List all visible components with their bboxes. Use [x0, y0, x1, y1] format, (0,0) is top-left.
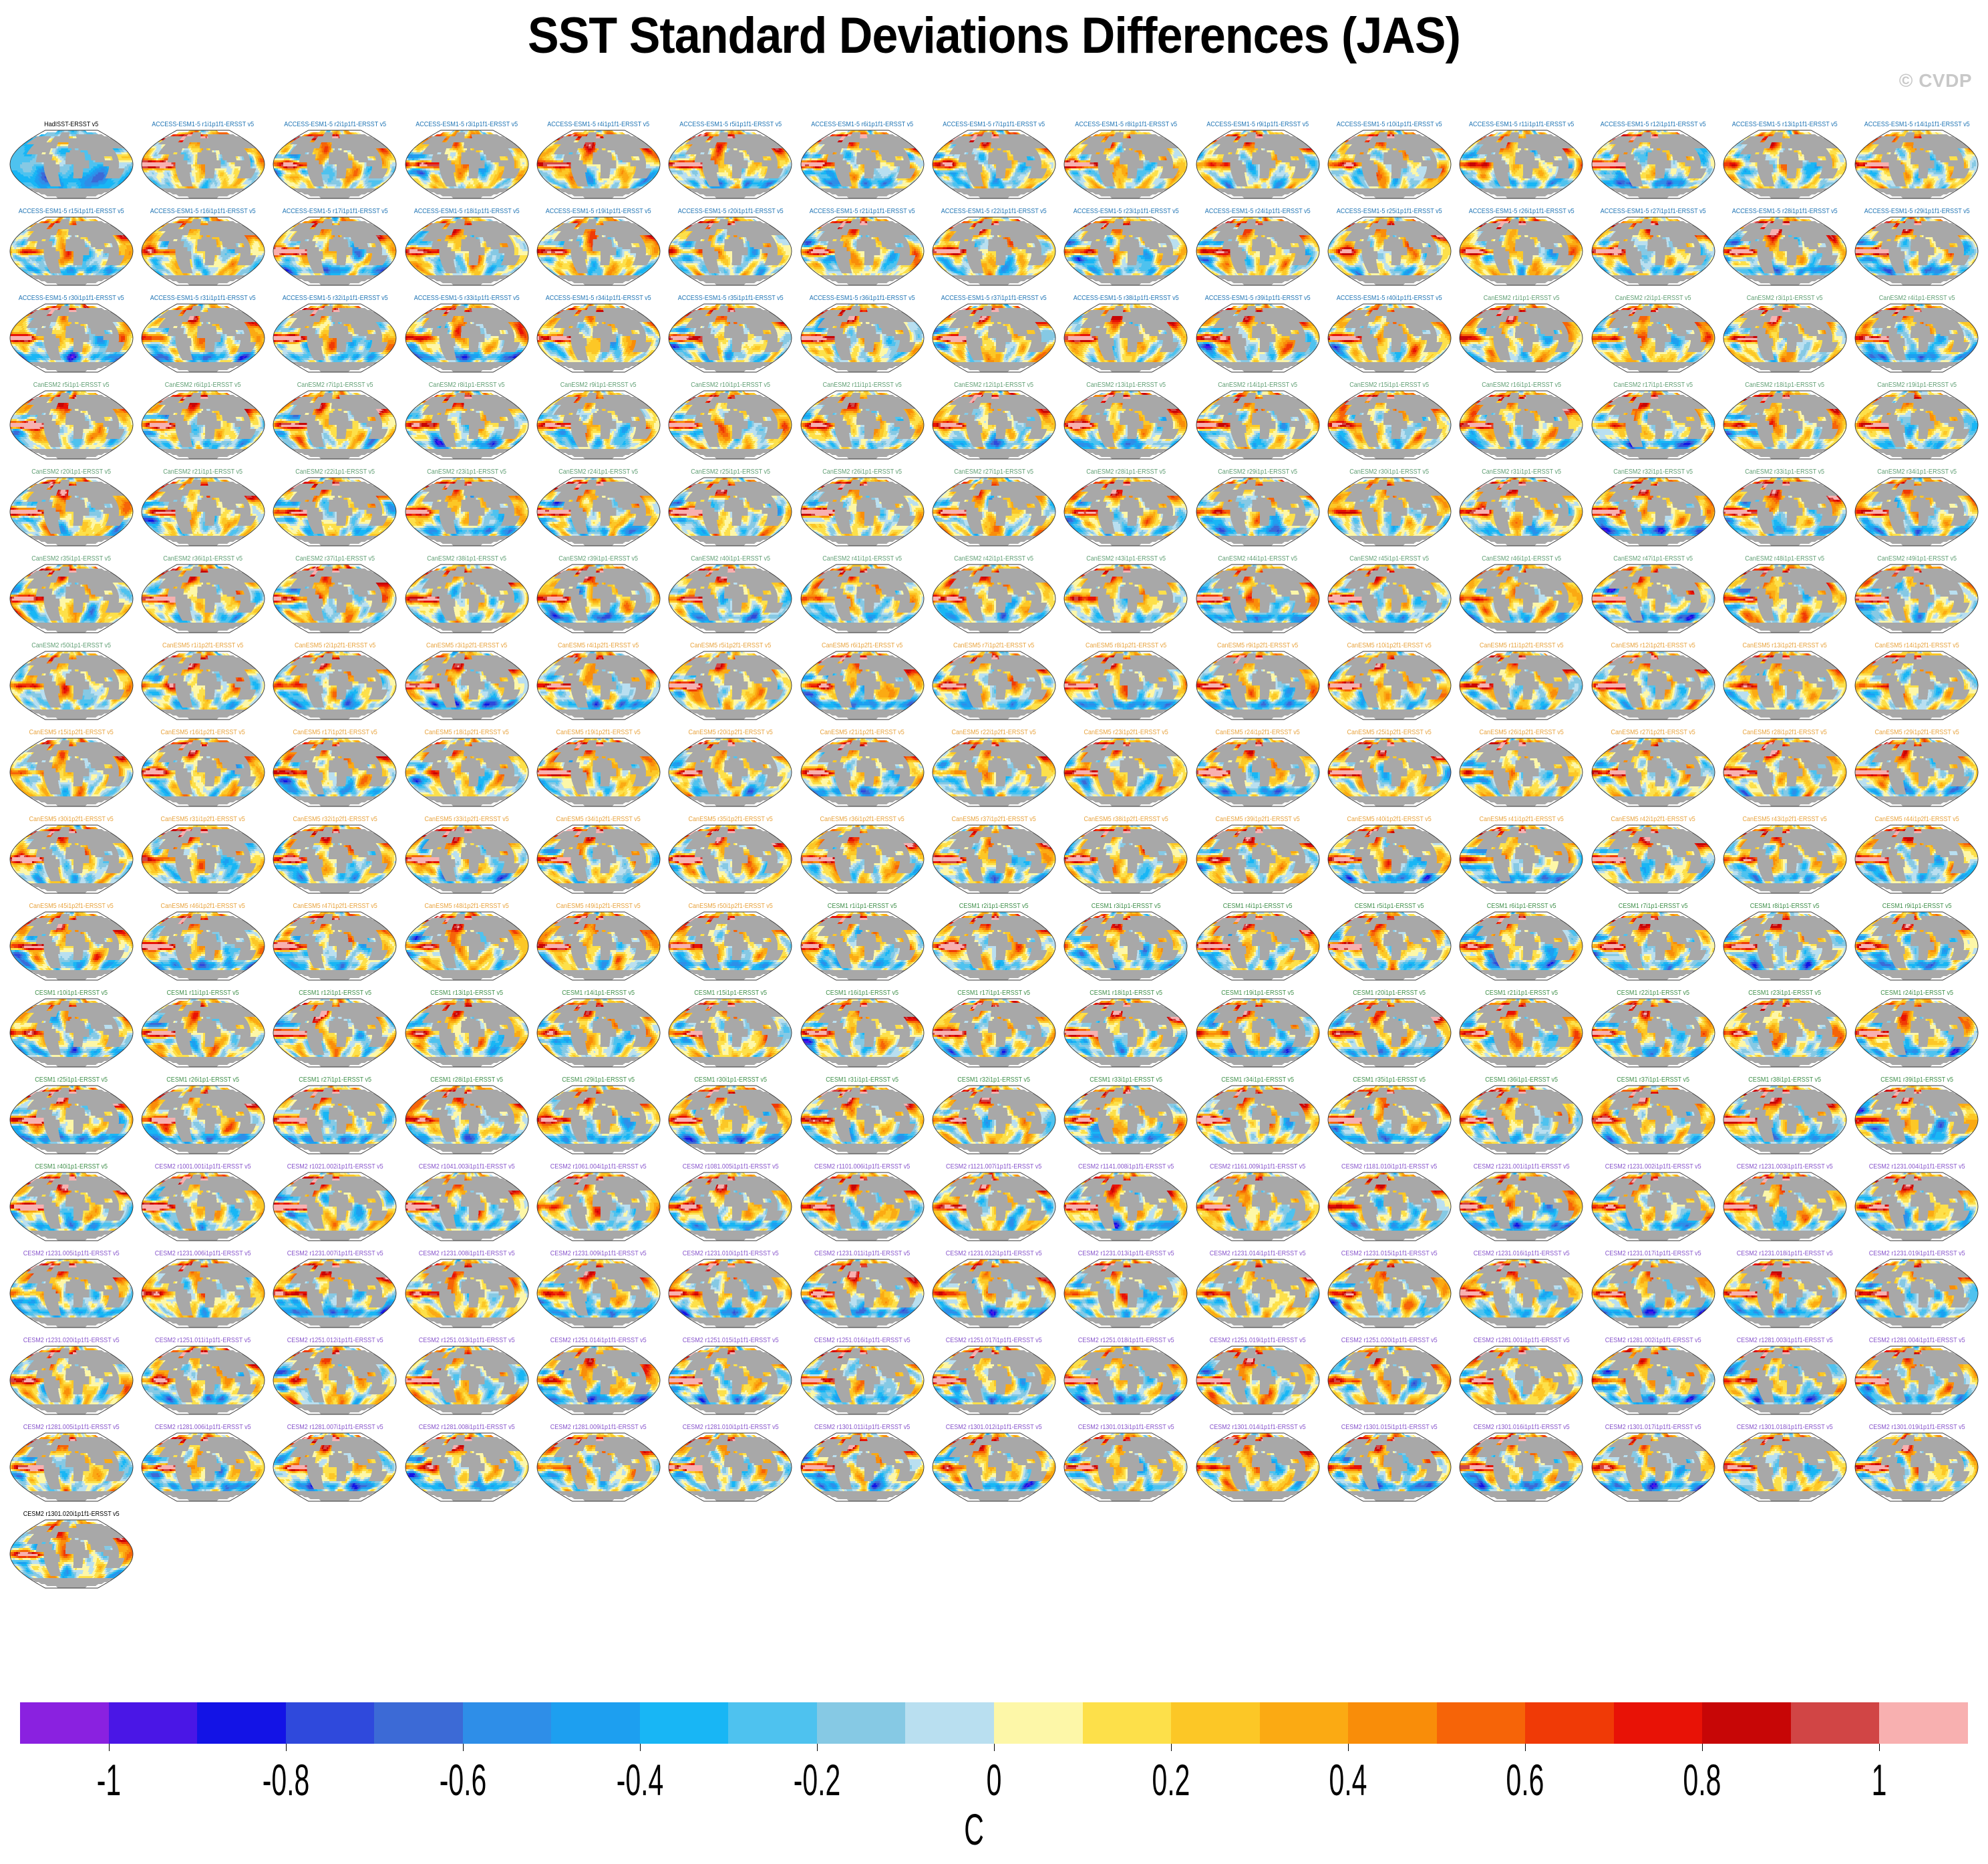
map-panel[interactable]: CESM1 r14i1p1-ERSST v5: [532, 989, 664, 1076]
map-panel[interactable]: CESM1 r36i1p1-ERSST v5: [1456, 1076, 1587, 1162]
map-panel[interactable]: CanESM5 r38i1p2f1-ERSST v5: [1060, 815, 1192, 902]
map-panel[interactable]: ACCESS-ESM1-5 r25i1p1f1-ERSST v5: [1323, 207, 1455, 294]
map-panel[interactable]: CESM2 r1231.004i1p1f1-ERSST v5: [1851, 1162, 1983, 1249]
map-panel[interactable]: ACCESS-ESM1-5 r24i1p1f1-ERSST v5: [1192, 207, 1323, 294]
map-panel[interactable]: CanESM5 r6i1p2f1-ERSST v5: [796, 641, 928, 728]
map-panel[interactable]: ACCESS-ESM1-5 r10i1p1f1-ERSST v5: [1323, 120, 1455, 207]
map-panel[interactable]: CESM2 r1281.006i1p1f1-ERSST v5: [137, 1423, 269, 1510]
map-panel[interactable]: CESM1 r27i1p1-ERSST v5: [269, 1076, 401, 1162]
map-panel[interactable]: CESM2 r1301.014i1p1f1-ERSST v5: [1192, 1423, 1323, 1510]
map-panel[interactable]: CESM2 r1231.013i1p1f1-ERSST v5: [1060, 1249, 1192, 1336]
map-panel[interactable]: CESM2 r1231.019i1p1f1-ERSST v5: [1851, 1249, 1983, 1336]
map-panel[interactable]: CESM2 r1281.003i1p1f1-ERSST v5: [1719, 1336, 1850, 1423]
map-panel[interactable]: CESM2 r1301.017i1p1f1-ERSST v5: [1587, 1423, 1719, 1510]
map-panel[interactable]: CESM1 r34i1p1-ERSST v5: [1192, 1076, 1323, 1162]
sst-anomaly-map: [800, 216, 925, 286]
sst-anomaly-map: [405, 1259, 529, 1328]
map-panel[interactable]: CanESM5 r39i1p2f1-ERSST v5: [1192, 815, 1323, 902]
map-panel[interactable]: CanESM5 r29i1p2f1-ERSST v5: [1851, 728, 1983, 815]
map-panel[interactable]: CanESM5 r26i1p2f1-ERSST v5: [1456, 728, 1587, 815]
map-panel[interactable]: ACCESS-ESM1-5 r5i1p1f1-ERSST v5: [665, 120, 796, 207]
map-panel[interactable]: ACCESS-ESM1-5 r19i1p1f1-ERSST v5: [532, 207, 664, 294]
map-panel[interactable]: CESM2 r1281.004i1p1f1-ERSST v5: [1851, 1336, 1983, 1423]
map-panel[interactable]: CESM2 r1231.008i1p1f1-ERSST v5: [401, 1249, 532, 1336]
panel-title: CanESM2 r48i1p1-ERSST v5: [1728, 555, 1842, 563]
map-panel[interactable]: CanESM2 r6i1p1-ERSST v5: [137, 381, 269, 468]
map-panel[interactable]: CanESM2 r4i1p1-ERSST v5: [1851, 294, 1983, 381]
map-panel[interactable]: CESM2 r1251.011i1p1f1-ERSST v5: [137, 1336, 269, 1423]
panel-title: CESM1 r6i1p1-ERSST v5: [1464, 902, 1578, 910]
sst-anomaly-map: [1196, 1432, 1320, 1502]
map-panel[interactable]: CESM1 r33i1p1-ERSST v5: [1060, 1076, 1192, 1162]
map-panel[interactable]: CESM2 r1251.020i1p1f1-ERSST v5: [1323, 1336, 1455, 1423]
map-panel[interactable]: CanESM5 r15i1p2f1-ERSST v5: [5, 728, 137, 815]
map-panel[interactable]: CanESM5 r27i1p2f1-ERSST v5: [1587, 728, 1719, 815]
map-panel[interactable]: CanESM5 r7i1p2f1-ERSST v5: [928, 641, 1059, 728]
map-panel[interactable]: ACCESS-ESM1-5 r26i1p1f1-ERSST v5: [1456, 207, 1587, 294]
map-panel[interactable]: CanESM5 r14i1p2f1-ERSST v5: [1851, 641, 1983, 728]
map-panel[interactable]: CanESM5 r2i1p2f1-ERSST v5: [269, 641, 401, 728]
map-panel[interactable]: CanESM5 r12i1p2f1-ERSST v5: [1587, 641, 1719, 728]
map-panel[interactable]: CanESM5 r46i1p2f1-ERSST v5: [137, 902, 269, 989]
map-panel[interactable]: CESM2 r1231.020i1p1f1-ERSST v5: [5, 1336, 137, 1423]
map-panel[interactable]: ACCESS-ESM1-5 r28i1p1f1-ERSST v5: [1719, 207, 1850, 294]
map-panel[interactable]: CESM2 r1231.003i1p1f1-ERSST v5: [1719, 1162, 1850, 1249]
map-panel[interactable]: CESM1 r23i1p1-ERSST v5: [1719, 989, 1850, 1076]
map-panel[interactable]: ACCESS-ESM1-5 r13i1p1f1-ERSST v5: [1719, 120, 1850, 207]
map-panel[interactable]: ACCESS-ESM1-5 r18i1p1f1-ERSST v5: [401, 207, 532, 294]
map-panel[interactable]: CanESM5 r37i1p2f1-ERSST v5: [928, 815, 1059, 902]
map-panel[interactable]: CanESM2 r37i1p1-ERSST v5: [269, 555, 401, 641]
map-panel[interactable]: CanESM5 r16i1p2f1-ERSST v5: [137, 728, 269, 815]
map-panel[interactable]: CESM2 r1301.011i1p1f1-ERSST v5: [796, 1423, 928, 1510]
map-panel[interactable]: CESM2 r1231.017i1p1f1-ERSST v5: [1587, 1249, 1719, 1336]
panel-title: ACCESS-ESM1-5 r4i1p1f1-ERSST v5: [542, 120, 655, 128]
map-panel[interactable]: CanESM2 r22i1p1-ERSST v5: [269, 468, 401, 555]
map-panel[interactable]: CESM2 r1251.012i1p1f1-ERSST v5: [269, 1336, 401, 1423]
map-panel[interactable]: ACCESS-ESM1-5 r21i1p1f1-ERSST v5: [796, 207, 928, 294]
map-panel[interactable]: CanESM2 r5i1p1-ERSST v5: [5, 381, 137, 468]
map-panel[interactable]: CESM1 r38i1p1-ERSST v5: [1719, 1076, 1850, 1162]
sst-anomaly-map: [1459, 216, 1583, 286]
map-panel[interactable]: CESM2 r1001.001i1p1f1-ERSST v5: [137, 1162, 269, 1249]
map-panel[interactable]: CanESM2 r12i1p1-ERSST v5: [928, 381, 1059, 468]
map-panel[interactable]: CESM1 r37i1p1-ERSST v5: [1587, 1076, 1719, 1162]
panel-title: CanESM2 r14i1p1-ERSST v5: [1201, 381, 1315, 389]
map-panel[interactable]: CanESM5 r40i1p2f1-ERSST v5: [1323, 815, 1455, 902]
sst-anomaly-map: [1854, 390, 1979, 460]
map-panel[interactable]: CanESM2 r1i1p1-ERSST v5: [1456, 294, 1587, 381]
map-panel[interactable]: CanESM2 r39i1p1-ERSST v5: [532, 555, 664, 641]
map-panel[interactable]: CESM2 r1301.013i1p1f1-ERSST v5: [1060, 1423, 1192, 1510]
map-panel[interactable]: ACCESS-ESM1-5 r1i1p1f1-ERSST v5: [137, 120, 269, 207]
panel-title: CESM2 r1301.014i1p1f1-ERSST v5: [1201, 1423, 1315, 1431]
sst-anomaly-map: [1723, 651, 1847, 720]
map-panel[interactable]: ACCESS-ESM1-5 r6i1p1f1-ERSST v5: [796, 120, 928, 207]
map-panel[interactable]: CanESM5 r48i1p2f1-ERSST v5: [401, 902, 532, 989]
map-panel[interactable]: ACCESS-ESM1-5 r32i1p1f1-ERSST v5: [269, 294, 401, 381]
map-panel[interactable]: CanESM2 r42i1p1-ERSST v5: [928, 555, 1059, 641]
map-panel[interactable]: CanESM2 r43i1p1-ERSST v5: [1060, 555, 1192, 641]
map-panel[interactable]: CESM1 r10i1p1-ERSST v5: [5, 989, 137, 1076]
map-panel[interactable]: CanESM2 r18i1p1-ERSST v5: [1719, 381, 1850, 468]
map-panel[interactable]: CanESM5 r13i1p2f1-ERSST v5: [1719, 641, 1850, 728]
map-panel[interactable]: CESM1 r3i1p1-ERSST v5: [1060, 902, 1192, 989]
map-panel[interactable]: CanESM5 r44i1p2f1-ERSST v5: [1851, 815, 1983, 902]
map-panel[interactable]: CanESM2 r15i1p1-ERSST v5: [1323, 381, 1455, 468]
map-panel[interactable]: CanESM2 r17i1p1-ERSST v5: [1587, 381, 1719, 468]
map-panel[interactable]: CESM2 r1251.013i1p1f1-ERSST v5: [401, 1336, 532, 1423]
map-panel[interactable]: CanESM5 r8i1p2f1-ERSST v5: [1060, 641, 1192, 728]
map-panel[interactable]: CESM1 r29i1p1-ERSST v5: [532, 1076, 664, 1162]
sst-anomaly-map: [536, 1085, 661, 1154]
map-panel[interactable]: CESM2 r1301.016i1p1f1-ERSST v5: [1456, 1423, 1587, 1510]
map-panel[interactable]: CESM2 r1281.009i1p1f1-ERSST v5: [532, 1423, 664, 1510]
map-panel[interactable]: CESM2 r1281.007i1p1f1-ERSST v5: [269, 1423, 401, 1510]
colorbar-tick: [994, 1744, 995, 1751]
map-panel[interactable]: CanESM5 r9i1p2f1-ERSST v5: [1192, 641, 1323, 728]
map-panel[interactable]: CESM1 r16i1p1-ERSST v5: [796, 989, 928, 1076]
sst-anomaly-map: [932, 824, 1056, 894]
map-panel[interactable]: CanESM5 r33i1p2f1-ERSST v5: [401, 815, 532, 902]
map-panel[interactable]: CESM2 r1231.012i1p1f1-ERSST v5: [928, 1249, 1059, 1336]
sst-anomaly-map: [141, 477, 265, 547]
map-panel[interactable]: CanESM5 r23i1p2f1-ERSST v5: [1060, 728, 1192, 815]
map-panel[interactable]: CESM1 r40i1p1-ERSST v5: [5, 1162, 137, 1249]
sst-anomaly-map: [9, 738, 134, 807]
map-panel[interactable]: CanESM5 r50i1p2f1-ERSST v5: [665, 902, 796, 989]
map-panel[interactable]: CESM1 r15i1p1-ERSST v5: [665, 989, 796, 1076]
map-panel[interactable]: HadISST-ERSST v5: [5, 120, 137, 207]
map-panel[interactable]: CESM2 r1181.010i1p1f1-ERSST v5: [1323, 1162, 1455, 1249]
sst-anomaly-map: [1327, 390, 1452, 460]
sst-anomaly-map: [1063, 998, 1188, 1068]
map-panel[interactable]: CESM2 r1061.004i1p1f1-ERSST v5: [532, 1162, 664, 1249]
map-panel[interactable]: CESM1 r12i1p1-ERSST v5: [269, 989, 401, 1076]
panel-title: CanESM2 r21i1p1-ERSST v5: [146, 468, 260, 476]
sst-anomaly-map: [1723, 303, 1847, 373]
map-panel[interactable]: ACCESS-ESM1-5 r17i1p1f1-ERSST v5: [269, 207, 401, 294]
map-panel[interactable]: CESM2 r1251.018i1p1f1-ERSST v5: [1060, 1336, 1192, 1423]
panel-title: CESM1 r37i1p1-ERSST v5: [1597, 1076, 1710, 1084]
map-panel[interactable]: CanESM2 r7i1p1-ERSST v5: [269, 381, 401, 468]
sst-anomaly-map: [1723, 1259, 1847, 1328]
sst-anomaly-map: [800, 564, 925, 633]
map-panel[interactable]: CanESM2 r31i1p1-ERSST v5: [1456, 468, 1587, 555]
panel-title: ACCESS-ESM1-5 r23i1p1f1-ERSST v5: [1069, 207, 1182, 215]
panel-title: CESM2 r1041.003i1p1f1-ERSST v5: [410, 1162, 524, 1171]
map-panel[interactable]: CESM1 r6i1p1-ERSST v5: [1456, 902, 1587, 989]
colorbar-tick-label: 0.6: [1506, 1754, 1544, 1805]
map-panel[interactable]: ACCESS-ESM1-5 r7i1p1f1-ERSST v5: [928, 120, 1059, 207]
map-panel[interactable]: ACCESS-ESM1-5 r37i1p1f1-ERSST v5: [928, 294, 1059, 381]
map-panel[interactable]: CESM2 r1101.006i1p1f1-ERSST v5: [796, 1162, 928, 1249]
map-panel[interactable]: ACCESS-ESM1-5 r8i1p1f1-ERSST v5: [1060, 120, 1192, 207]
map-panel[interactable]: CanESM5 r4i1p2f1-ERSST v5: [532, 641, 664, 728]
colorbar-swatch: [197, 1702, 286, 1744]
map-panel[interactable]: CanESM5 r25i1p2f1-ERSST v5: [1323, 728, 1455, 815]
map-panel[interactable]: CESM1 r24i1p1-ERSST v5: [1851, 989, 1983, 1076]
map-panel[interactable]: CESM2 r1251.016i1p1f1-ERSST v5: [796, 1336, 928, 1423]
map-panel[interactable]: CESM1 r4i1p1-ERSST v5: [1192, 902, 1323, 989]
map-panel[interactable]: ACCESS-ESM1-5 r16i1p1f1-ERSST v5: [137, 207, 269, 294]
map-panel[interactable]: CanESM2 r8i1p1-ERSST v5: [401, 381, 532, 468]
map-panel[interactable]: CanESM5 r17i1p2f1-ERSST v5: [269, 728, 401, 815]
map-panel[interactable]: CESM1 r31i1p1-ERSST v5: [796, 1076, 928, 1162]
map-panel[interactable]: CanESM2 r10i1p1-ERSST v5: [665, 381, 796, 468]
map-panel[interactable]: CESM2 r1231.001i1p1f1-ERSST v5: [1456, 1162, 1587, 1249]
map-panel[interactable]: CESM2 r1161.009i1p1f1-ERSST v5: [1192, 1162, 1323, 1249]
sst-anomaly-map: [1723, 477, 1847, 547]
map-panel[interactable]: CanESM5 r19i1p2f1-ERSST v5: [532, 728, 664, 815]
map-panel[interactable]: CESM2 r1281.001i1p1f1-ERSST v5: [1456, 1336, 1587, 1423]
map-panel[interactable]: CESM2 r1231.014i1p1f1-ERSST v5: [1192, 1249, 1323, 1336]
sst-anomaly-map: [1723, 390, 1847, 460]
map-panel[interactable]: CESM2 r1301.015i1p1f1-ERSST v5: [1323, 1423, 1455, 1510]
map-panel[interactable]: ACCESS-ESM1-5 r38i1p1f1-ERSST v5: [1060, 294, 1192, 381]
map-panel[interactable]: CESM1 r39i1p1-ERSST v5: [1851, 1076, 1983, 1162]
map-panel[interactable]: ACCESS-ESM1-5 r29i1p1f1-ERSST v5: [1851, 207, 1983, 294]
map-panel[interactable]: CanESM2 r46i1p1-ERSST v5: [1456, 555, 1587, 641]
map-panel[interactable]: ACCESS-ESM1-5 r34i1p1f1-ERSST v5: [532, 294, 664, 381]
map-panel[interactable]: ACCESS-ESM1-5 r14i1p1f1-ERSST v5: [1851, 120, 1983, 207]
map-panel[interactable]: ACCESS-ESM1-5 r39i1p1f1-ERSST v5: [1192, 294, 1323, 381]
map-panel[interactable]: CESM2 r1251.019i1p1f1-ERSST v5: [1192, 1336, 1323, 1423]
map-panel[interactable]: CanESM2 r47i1p1-ERSST v5: [1587, 555, 1719, 641]
map-panel[interactable]: CanESM2 r9i1p1-ERSST v5: [532, 381, 664, 468]
map-panel[interactable]: CanESM2 r32i1p1-ERSST v5: [1587, 468, 1719, 555]
map-panel[interactable]: CESM1 r26i1p1-ERSST v5: [137, 1076, 269, 1162]
map-panel[interactable]: ACCESS-ESM1-5 r11i1p1f1-ERSST v5: [1456, 120, 1587, 207]
map-panel[interactable]: CESM2 r1231.011i1p1f1-ERSST v5: [796, 1249, 928, 1336]
map-panel[interactable]: CanESM2 r29i1p1-ERSST v5: [1192, 468, 1323, 555]
sst-anomaly-map: [1591, 1259, 1715, 1328]
map-panel[interactable]: CESM1 r17i1p1-ERSST v5: [928, 989, 1059, 1076]
colorbar-swatch: [1879, 1702, 1968, 1744]
map-panel[interactable]: CanESM5 r28i1p2f1-ERSST v5: [1719, 728, 1850, 815]
sst-anomaly-map: [1196, 1259, 1320, 1328]
sst-anomaly-map: [141, 1259, 265, 1328]
map-panel[interactable]: CanESM2 r30i1p1-ERSST v5: [1323, 468, 1455, 555]
map-panel[interactable]: CESM2 r1121.007i1p1f1-ERSST v5: [928, 1162, 1059, 1249]
map-panel[interactable]: CanESM2 r25i1p1-ERSST v5: [665, 468, 796, 555]
map-panel[interactable]: CanESM5 r22i1p2f1-ERSST v5: [928, 728, 1059, 815]
map-panel[interactable]: CanESM5 r11i1p2f1-ERSST v5: [1456, 641, 1587, 728]
map-panel[interactable]: CanESM5 r47i1p2f1-ERSST v5: [269, 902, 401, 989]
map-panel[interactable]: CESM2 r1081.005i1p1f1-ERSST v5: [665, 1162, 796, 1249]
panel-title: CESM1 r18i1p1-ERSST v5: [1069, 989, 1182, 997]
sst-anomaly-map: [273, 911, 397, 981]
map-panel[interactable]: CanESM5 r3i1p2f1-ERSST v5: [401, 641, 532, 728]
map-panel[interactable]: CESM1 r18i1p1-ERSST v5: [1060, 989, 1192, 1076]
panel-title: CESM2 r1061.004i1p1f1-ERSST v5: [542, 1162, 655, 1171]
map-panel[interactable]: CanESM2 r36i1p1-ERSST v5: [137, 555, 269, 641]
map-panel[interactable]: CESM2 r1141.008i1p1f1-ERSST v5: [1060, 1162, 1192, 1249]
map-panel[interactable]: CanESM5 r31i1p2f1-ERSST v5: [137, 815, 269, 902]
map-panel[interactable]: CanESM2 r2i1p1-ERSST v5: [1587, 294, 1719, 381]
panel-title: CESM2 r1231.010i1p1f1-ERSST v5: [673, 1249, 787, 1257]
sst-anomaly-map: [405, 303, 529, 373]
map-panel[interactable]: CanESM2 r41i1p1-ERSST v5: [796, 555, 928, 641]
map-panel[interactable]: CESM1 r2i1p1-ERSST v5: [928, 902, 1059, 989]
map-panel[interactable]: CESM2 r1231.006i1p1f1-ERSST v5: [137, 1249, 269, 1336]
sst-anomaly-map: [1854, 824, 1979, 894]
map-panel[interactable]: CESM1 r35i1p1-ERSST v5: [1323, 1076, 1455, 1162]
map-panel[interactable]: CanESM5 r43i1p2f1-ERSST v5: [1719, 815, 1850, 902]
map-panel[interactable]: CESM1 r7i1p1-ERSST v5: [1587, 902, 1719, 989]
panel-title: CanESM5 r27i1p2f1-ERSST v5: [1597, 728, 1710, 736]
sst-anomaly-map: [800, 911, 925, 981]
map-panel[interactable]: CanESM2 r34i1p1-ERSST v5: [1851, 468, 1983, 555]
map-panel[interactable]: CESM1 r1i1p1-ERSST v5: [796, 902, 928, 989]
map-panel[interactable]: CanESM2 r27i1p1-ERSST v5: [928, 468, 1059, 555]
map-panel[interactable]: CESM2 r1231.010i1p1f1-ERSST v5: [665, 1249, 796, 1336]
map-panel[interactable]: CanESM5 r49i1p2f1-ERSST v5: [532, 902, 664, 989]
map-panel[interactable]: ACCESS-ESM1-5 r22i1p1f1-ERSST v5: [928, 207, 1059, 294]
map-panel[interactable]: CanESM5 r32i1p2f1-ERSST v5: [269, 815, 401, 902]
map-panel[interactable]: CanESM2 r50i1p1-ERSST v5: [5, 641, 137, 728]
map-panel[interactable]: CESM2 r1231.018i1p1f1-ERSST v5: [1719, 1249, 1850, 1336]
map-panel[interactable]: CanESM2 r35i1p1-ERSST v5: [5, 555, 137, 641]
sst-anomaly-map: [141, 1085, 265, 1154]
map-panel[interactable]: CESM1 r22i1p1-ERSST v5: [1587, 989, 1719, 1076]
map-panel[interactable]: CanESM2 r11i1p1-ERSST v5: [796, 381, 928, 468]
map-panel[interactable]: CESM2 r1231.009i1p1f1-ERSST v5: [532, 1249, 664, 1336]
map-panel[interactable]: CanESM5 r34i1p2f1-ERSST v5: [532, 815, 664, 902]
map-panel[interactable]: CESM2 r1301.018i1p1f1-ERSST v5: [1719, 1423, 1850, 1510]
map-panel[interactable]: CESM2 r1041.003i1p1f1-ERSST v5: [401, 1162, 532, 1249]
map-panel[interactable]: ACCESS-ESM1-5 r31i1p1f1-ERSST v5: [137, 294, 269, 381]
map-panel[interactable]: CanESM2 r24i1p1-ERSST v5: [532, 468, 664, 555]
map-panel[interactable]: CanESM5 r30i1p2f1-ERSST v5: [5, 815, 137, 902]
map-panel[interactable]: CanESM5 r5i1p2f1-ERSST v5: [665, 641, 796, 728]
panel-title: CanESM5 r25i1p2f1-ERSST v5: [1333, 728, 1446, 736]
sst-anomaly-map: [273, 738, 397, 807]
map-panel[interactable]: ACCESS-ESM1-5 r20i1p1f1-ERSST v5: [665, 207, 796, 294]
sst-anomaly-map: [668, 738, 792, 807]
map-panel[interactable]: CanESM2 r19i1p1-ERSST v5: [1851, 381, 1983, 468]
map-panel[interactable]: CESM2 r1231.015i1p1f1-ERSST v5: [1323, 1249, 1455, 1336]
map-panel[interactable]: CESM2 r1251.014i1p1f1-ERSST v5: [532, 1336, 664, 1423]
map-panel[interactable]: CanESM5 r35i1p2f1-ERSST v5: [665, 815, 796, 902]
map-panel[interactable]: CanESM5 r24i1p2f1-ERSST v5: [1192, 728, 1323, 815]
map-panel[interactable]: ACCESS-ESM1-5 r4i1p1f1-ERSST v5: [532, 120, 664, 207]
map-panel[interactable]: CESM2 r1281.005i1p1f1-ERSST v5: [5, 1423, 137, 1510]
map-panel[interactable]: CESM1 r13i1p1-ERSST v5: [401, 989, 532, 1076]
map-panel[interactable]: CESM1 r30i1p1-ERSST v5: [665, 1076, 796, 1162]
map-panel[interactable]: CanESM2 r49i1p1-ERSST v5: [1851, 555, 1983, 641]
map-panel[interactable]: CESM1 r19i1p1-ERSST v5: [1192, 989, 1323, 1076]
map-panel[interactable]: CESM1 r28i1p1-ERSST v5: [401, 1076, 532, 1162]
map-panel[interactable]: CESM2 r1231.005i1p1f1-ERSST v5: [5, 1249, 137, 1336]
map-panel[interactable]: CanESM2 r44i1p1-ERSST v5: [1192, 555, 1323, 641]
map-panel[interactable]: CESM2 r1301.020i1p1f1-ERSST v5: [5, 1510, 137, 1597]
map-panel[interactable]: ACCESS-ESM1-5 r30i1p1f1-ERSST v5: [5, 294, 137, 381]
sst-anomaly-map: [1591, 130, 1715, 199]
map-panel[interactable]: CanESM2 r13i1p1-ERSST v5: [1060, 381, 1192, 468]
panel-title: CanESM2 r38i1p1-ERSST v5: [410, 555, 524, 563]
map-panel[interactable]: ACCESS-ESM1-5 r27i1p1f1-ERSST v5: [1587, 207, 1719, 294]
map-panel[interactable]: CESM2 r1281.008i1p1f1-ERSST v5: [401, 1423, 532, 1510]
sst-anomaly-map: [800, 1346, 925, 1415]
map-panel[interactable]: CanESM2 r16i1p1-ERSST v5: [1456, 381, 1587, 468]
map-panel[interactable]: CanESM2 r28i1p1-ERSST v5: [1060, 468, 1192, 555]
map-panel[interactable]: CanESM2 r45i1p1-ERSST v5: [1323, 555, 1455, 641]
panel-title: ACCESS-ESM1-5 r8i1p1f1-ERSST v5: [1069, 120, 1182, 128]
map-panel[interactable]: CanESM5 r20i1p2f1-ERSST v5: [665, 728, 796, 815]
map-panel[interactable]: ACCESS-ESM1-5 r3i1p1f1-ERSST v5: [401, 120, 532, 207]
sst-anomaly-map: [668, 130, 792, 199]
map-panel[interactable]: ACCESS-ESM1-5 r9i1p1f1-ERSST v5: [1192, 120, 1323, 207]
map-panel[interactable]: CanESM2 r14i1p1-ERSST v5: [1192, 381, 1323, 468]
map-panel[interactable]: CESM1 r20i1p1-ERSST v5: [1323, 989, 1455, 1076]
map-panel[interactable]: ACCESS-ESM1-5 r33i1p1f1-ERSST v5: [401, 294, 532, 381]
map-panel[interactable]: CanESM5 r41i1p2f1-ERSST v5: [1456, 815, 1587, 902]
map-panel[interactable]: CESM1 r8i1p1-ERSST v5: [1719, 902, 1850, 989]
map-panel[interactable]: CanESM2 r48i1p1-ERSST v5: [1719, 555, 1850, 641]
map-panel[interactable]: CanESM2 r38i1p1-ERSST v5: [401, 555, 532, 641]
sst-anomaly-map: [1327, 1432, 1452, 1502]
panel-title: CanESM5 r45i1p2f1-ERSST v5: [15, 902, 128, 910]
map-panel[interactable]: CanESM5 r18i1p2f1-ERSST v5: [401, 728, 532, 815]
map-panel[interactable]: CESM1 r11i1p1-ERSST v5: [137, 989, 269, 1076]
sst-anomaly-map: [1854, 1259, 1979, 1328]
map-panel[interactable]: CESM1 r25i1p1-ERSST v5: [5, 1076, 137, 1162]
map-panel[interactable]: CESM2 r1281.002i1p1f1-ERSST v5: [1587, 1336, 1719, 1423]
map-panel[interactable]: ACCESS-ESM1-5 r2i1p1f1-ERSST v5: [269, 120, 401, 207]
map-panel[interactable]: CanESM5 r1i1p2f1-ERSST v5: [137, 641, 269, 728]
map-panel[interactable]: CanESM5 r42i1p2f1-ERSST v5: [1587, 815, 1719, 902]
map-panel[interactable]: CESM2 r1231.002i1p1f1-ERSST v5: [1587, 1162, 1719, 1249]
map-panel[interactable]: ACCESS-ESM1-5 r35i1p1f1-ERSST v5: [665, 294, 796, 381]
map-panel[interactable]: CESM2 r1301.012i1p1f1-ERSST v5: [928, 1423, 1059, 1510]
map-panel[interactable]: CESM2 r1251.015i1p1f1-ERSST v5: [665, 1336, 796, 1423]
map-panel[interactable]: ACCESS-ESM1-5 r36i1p1f1-ERSST v5: [796, 294, 928, 381]
sst-anomaly-map: [668, 1172, 792, 1241]
map-panel[interactable]: CESM1 r9i1p1-ERSST v5: [1851, 902, 1983, 989]
map-panel[interactable]: CanESM2 r23i1p1-ERSST v5: [401, 468, 532, 555]
map-panel[interactable]: CanESM2 r40i1p1-ERSST v5: [665, 555, 796, 641]
map-panel[interactable]: CanESM2 r20i1p1-ERSST v5: [5, 468, 137, 555]
map-panel[interactable]: CESM2 r1301.019i1p1f1-ERSST v5: [1851, 1423, 1983, 1510]
map-panel[interactable]: CanESM2 r21i1p1-ERSST v5: [137, 468, 269, 555]
map-panel[interactable]: CESM1 r21i1p1-ERSST v5: [1456, 989, 1587, 1076]
map-panel[interactable]: CanESM2 r26i1p1-ERSST v5: [796, 468, 928, 555]
colorbar-tick-label: -0.2: [794, 1754, 841, 1805]
map-panel[interactable]: CanESM5 r45i1p2f1-ERSST v5: [5, 902, 137, 989]
map-panel[interactable]: CESM2 r1281.010i1p1f1-ERSST v5: [665, 1423, 796, 1510]
map-panel[interactable]: CanESM2 r33i1p1-ERSST v5: [1719, 468, 1850, 555]
map-panel[interactable]: CESM2 r1231.007i1p1f1-ERSST v5: [269, 1249, 401, 1336]
map-panel[interactable]: CanESM2 r3i1p1-ERSST v5: [1719, 294, 1850, 381]
map-panel[interactable]: CESM2 r1251.017i1p1f1-ERSST v5: [928, 1336, 1059, 1423]
map-panel[interactable]: CESM2 r1021.002i1p1f1-ERSST v5: [269, 1162, 401, 1249]
map-panel[interactable]: ACCESS-ESM1-5 r23i1p1f1-ERSST v5: [1060, 207, 1192, 294]
map-panel[interactable]: ACCESS-ESM1-5 r15i1p1f1-ERSST v5: [5, 207, 137, 294]
map-panel[interactable]: CESM2 r1231.016i1p1f1-ERSST v5: [1456, 1249, 1587, 1336]
map-panel[interactable]: ACCESS-ESM1-5 r12i1p1f1-ERSST v5: [1587, 120, 1719, 207]
panel-title: CanESM2 r29i1p1-ERSST v5: [1201, 468, 1315, 476]
panel-title: ACCESS-ESM1-5 r39i1p1f1-ERSST v5: [1201, 294, 1315, 302]
map-panel[interactable]: CanESM5 r10i1p2f1-ERSST v5: [1323, 641, 1455, 728]
map-panel[interactable]: CESM1 r32i1p1-ERSST v5: [928, 1076, 1059, 1162]
sst-anomaly-map: [9, 824, 134, 894]
map-panel[interactable]: CanESM5 r21i1p2f1-ERSST v5: [796, 728, 928, 815]
map-panel[interactable]: ACCESS-ESM1-5 r40i1p1f1-ERSST v5: [1323, 294, 1455, 381]
map-panel[interactable]: CESM1 r5i1p1-ERSST v5: [1323, 902, 1455, 989]
panel-title: CESM2 r1121.007i1p1f1-ERSST v5: [937, 1162, 1051, 1171]
map-panel[interactable]: CanESM5 r36i1p2f1-ERSST v5: [796, 815, 928, 902]
